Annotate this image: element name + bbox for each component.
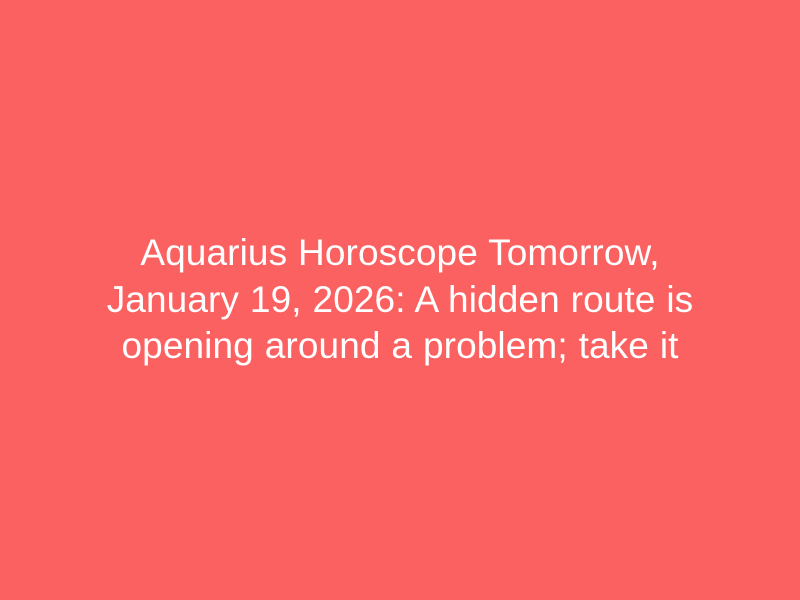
- page-title: Aquarius Horoscope Tomorrow, January 19,…: [70, 230, 730, 370]
- headline-block: Aquarius Horoscope Tomorrow, January 19,…: [70, 230, 730, 370]
- horoscope-card: Aquarius Horoscope Tomorrow, January 19,…: [0, 0, 800, 600]
